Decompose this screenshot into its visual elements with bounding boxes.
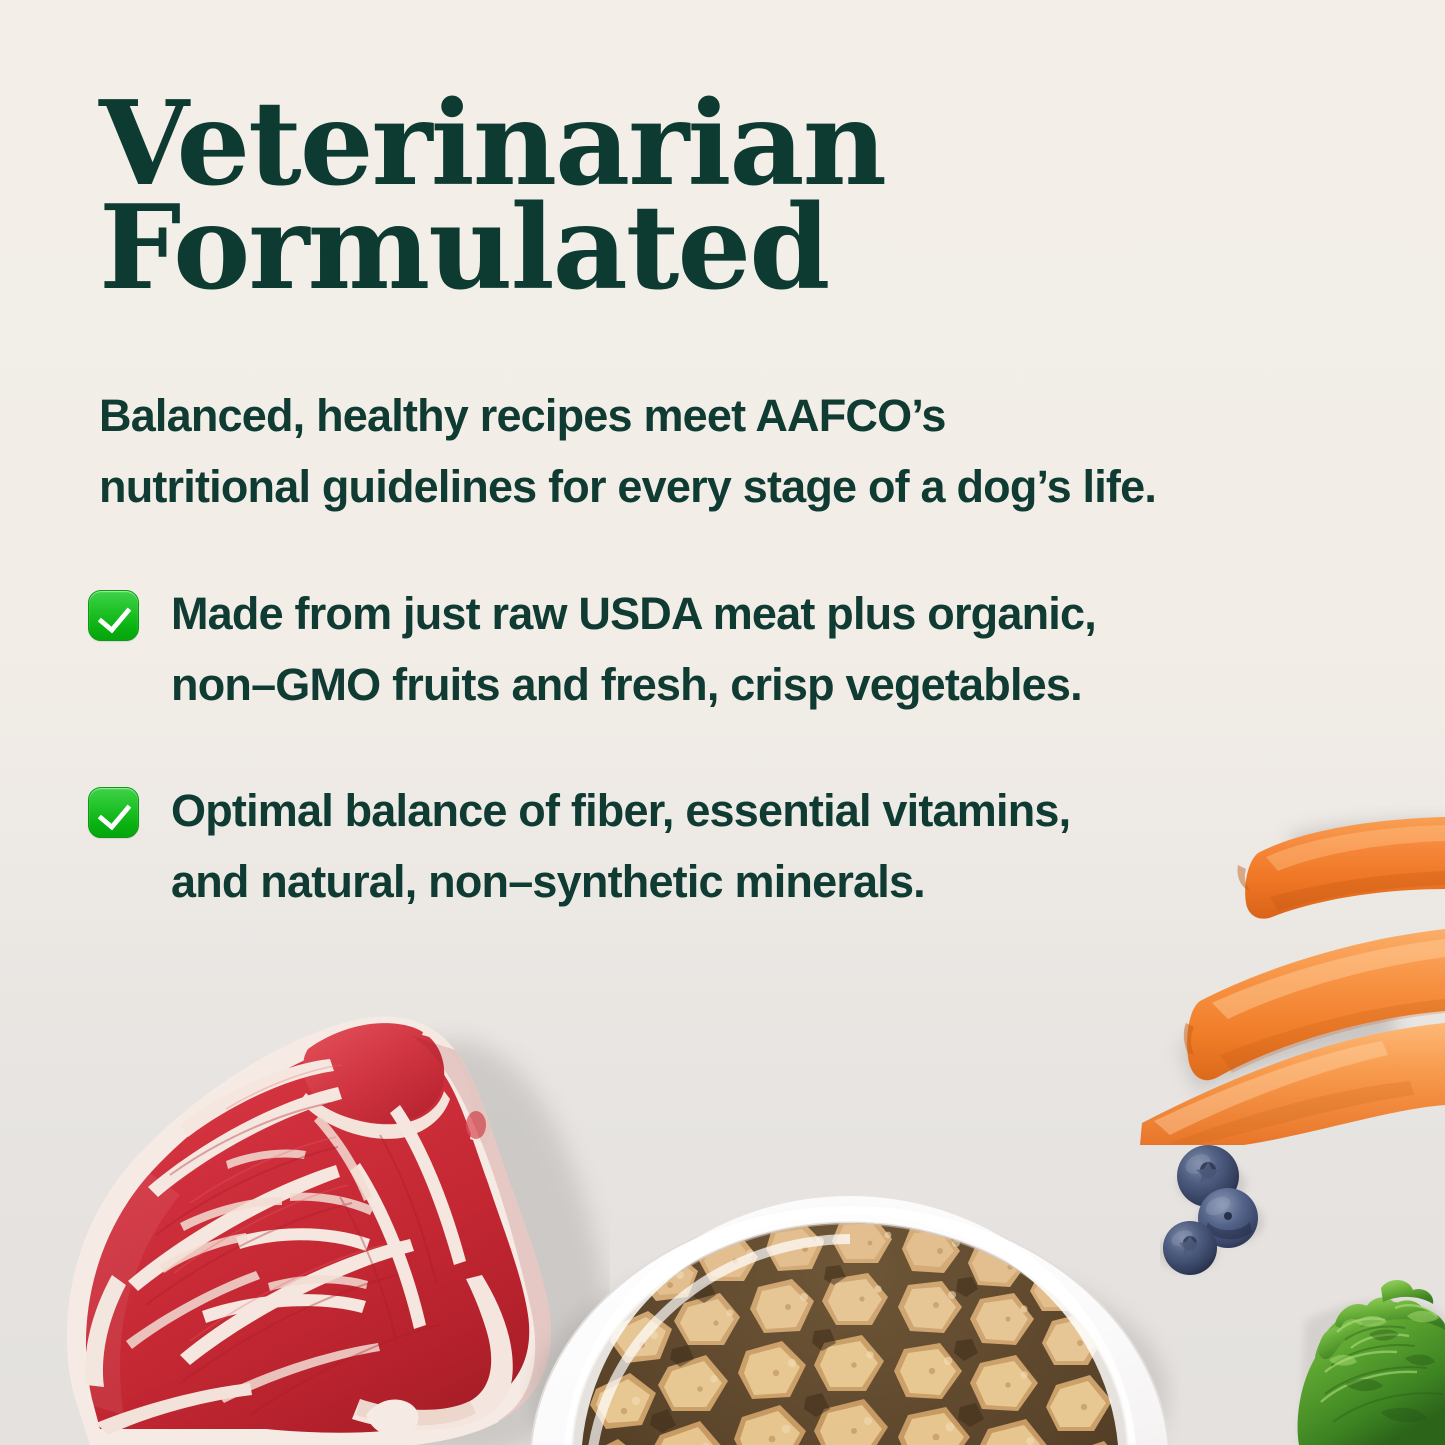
marketing-copy: Veterinarian Formulated Balanced, health… <box>0 0 1445 1445</box>
subheading: Balanced, healthy recipes meet AAFCO’s n… <box>99 380 1389 522</box>
feature-bullet: Made from just raw USDA meat plus organi… <box>88 578 1388 720</box>
feature-bullet: Optimal balance of fiber, essential vita… <box>88 775 1388 917</box>
feature-bullet-label: Optimal balance of fiber, essential vita… <box>171 775 1070 917</box>
page-title: Veterinarian Formulated <box>99 92 1099 300</box>
feature-bullet-label: Made from just raw USDA meat plus organi… <box>171 578 1096 720</box>
white-check-mark-button-icon <box>88 787 139 838</box>
white-check-mark-button-icon <box>88 590 139 641</box>
